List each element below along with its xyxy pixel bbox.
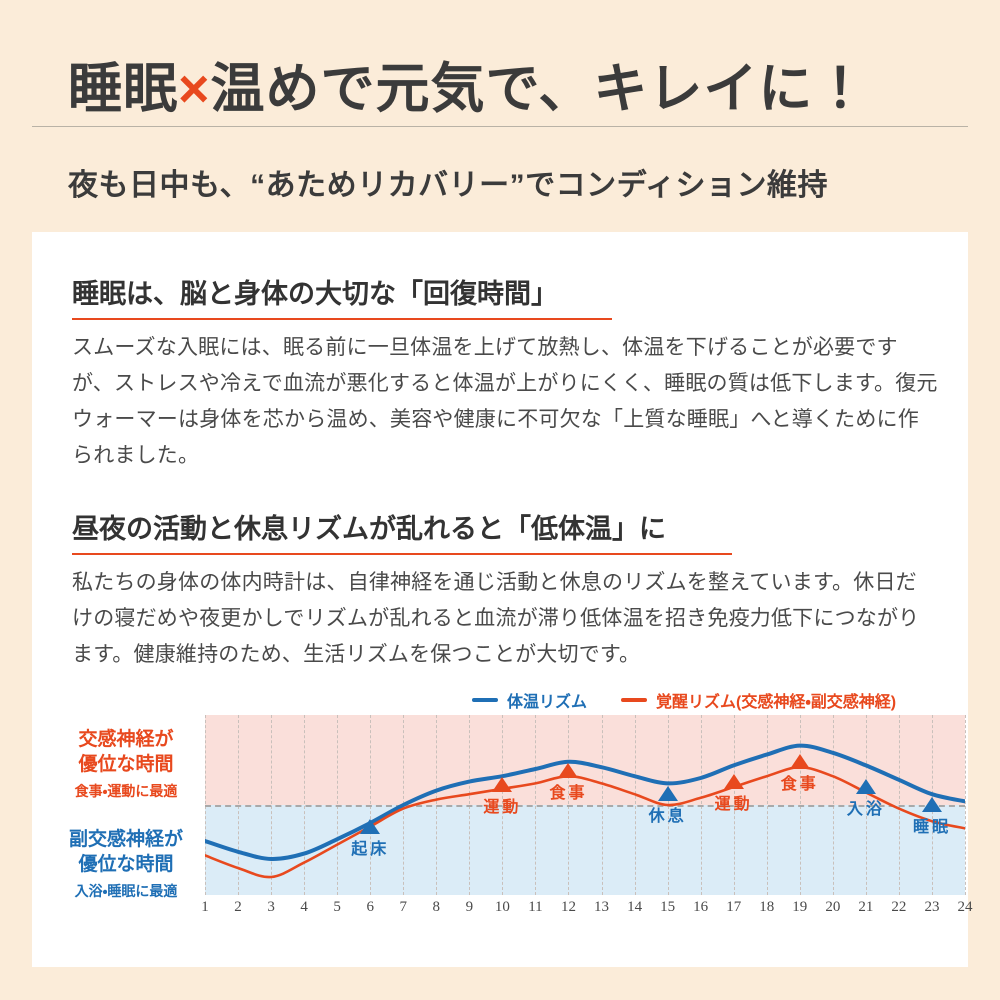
side-label-sympathetic-line1: 交感神経が bbox=[50, 727, 202, 752]
legend-label-body-temperature: 体温リズム bbox=[507, 688, 587, 712]
x-axis-tick: 20 bbox=[825, 899, 840, 916]
x-axis-tick: 23 bbox=[924, 899, 939, 916]
section-body-sleep: スムーズな入眠には、眠る前に一旦体温を上げて放熱し、体温を下げることが必要ですが… bbox=[72, 330, 938, 474]
side-label-sympathetic-sub: 食事・運動に最適 bbox=[50, 781, 202, 801]
infographic-page: 睡眠×温めで元気で、キレイに！ 夜も日中も、“あためリカバリー”でコンディション… bbox=[0, 0, 1000, 1000]
page-title: 睡眠×温めで元気で、キレイに！ bbox=[68, 44, 868, 123]
triangle-icon bbox=[724, 774, 744, 789]
page-title-part2: 温めで元気で、キレイに！ bbox=[211, 59, 869, 119]
chart-marker-起床: 起床 bbox=[351, 819, 389, 859]
section-body-rhythm: 私たちの身体の体内時計は、自律神経を通じ活動と休息のリズムを整えています。休日だ… bbox=[72, 565, 938, 673]
x-axis-tick: 13 bbox=[594, 899, 609, 916]
chart-marker-休息: 休息 bbox=[649, 786, 687, 826]
chart-marker-label: 運動 bbox=[483, 793, 521, 817]
chart-marker-運動: 運動 bbox=[483, 777, 521, 817]
chart-marker-label: 食事 bbox=[781, 770, 819, 794]
legend-label-arousal: 覚醒リズム(交感神経・副交感神経) bbox=[656, 688, 896, 712]
x-axis-tick: 14 bbox=[627, 899, 642, 916]
x-axis-tick: 21 bbox=[858, 899, 873, 916]
x-axis-tick: 16 bbox=[693, 899, 708, 916]
x-axis-tick: 3 bbox=[267, 899, 275, 916]
section-heading-rhythm: 昼夜の活動と休息リズムが乱れると「低体温」に bbox=[72, 507, 732, 546]
legend-swatch-orange bbox=[621, 698, 647, 702]
legend-swatch-blue bbox=[472, 698, 498, 702]
chart-marker-運動: 運動 bbox=[715, 774, 753, 814]
legend-item-body-temperature: 体温リズム bbox=[472, 688, 587, 712]
triangle-icon bbox=[658, 786, 678, 801]
x-axis-tick: 6 bbox=[366, 899, 374, 916]
triangle-icon bbox=[922, 797, 942, 812]
x-axis-tick: 5 bbox=[333, 899, 341, 916]
chart-marker-label: 休息 bbox=[649, 802, 687, 826]
page-subtitle: 夜も日中も、“あためリカバリー”でコンディション維持 bbox=[68, 160, 828, 204]
side-label-parasympathetic-sub: 入浴・睡眠に最適 bbox=[50, 881, 202, 901]
section-heading-sleep: 睡眠は、脳と身体の大切な「回復時間」 bbox=[72, 272, 612, 311]
triangle-icon bbox=[492, 777, 512, 792]
side-label-parasympathetic-line1: 副交感神経が bbox=[50, 827, 202, 852]
chart-legend: 体温リズム 覚醒リズム(交感神経・副交感神経) bbox=[472, 687, 962, 713]
triangle-icon bbox=[856, 779, 876, 794]
x-axis-tick: 2 bbox=[234, 899, 242, 916]
x-axis-tick: 4 bbox=[300, 899, 308, 916]
chart-marker-label: 食事 bbox=[549, 779, 587, 803]
triangle-icon bbox=[790, 754, 810, 769]
header-divider bbox=[32, 126, 968, 127]
legend-item-arousal: 覚醒リズム(交感神経・副交感神経) bbox=[621, 688, 896, 712]
side-label-sympathetic: 交感神経が 優位な時間 食事・運動に最適 bbox=[50, 727, 202, 801]
x-axis-tick: 1 bbox=[201, 899, 209, 916]
x-axis-tick: 12 bbox=[561, 899, 576, 916]
chart-marker-label: 入浴 bbox=[847, 795, 885, 819]
side-label-parasympathetic: 副交感神経が 優位な時間 入浴・睡眠に最適 bbox=[50, 827, 202, 901]
chart-x-axis: 123456789101112131415161718192021222324 bbox=[205, 899, 965, 923]
x-axis-tick: 19 bbox=[792, 899, 807, 916]
x-axis-tick: 22 bbox=[891, 899, 906, 916]
x-axis-tick: 15 bbox=[660, 899, 675, 916]
triangle-icon bbox=[360, 819, 380, 834]
circadian-rhythm-chart: 体温リズム 覚醒リズム(交感神経・副交感神経) 交感神経が 優位な時間 食事・運… bbox=[32, 687, 968, 947]
chart-marker-睡眠: 睡眠 bbox=[913, 797, 951, 837]
page-title-part1: 睡眠 bbox=[68, 59, 178, 119]
x-axis-tick: 7 bbox=[400, 899, 408, 916]
chart-marker-入浴: 入浴 bbox=[847, 779, 885, 819]
chart-marker-食事: 食事 bbox=[781, 754, 819, 794]
chart-marker-label: 睡眠 bbox=[913, 813, 951, 837]
x-axis-tick: 18 bbox=[759, 899, 774, 916]
triangle-icon bbox=[558, 763, 578, 778]
content-card: 睡眠は、脳と身体の大切な「回復時間」 スムーズな入眠には、眠る前に一旦体温を上げ… bbox=[32, 232, 968, 967]
cross-icon: × bbox=[178, 59, 211, 119]
gridline bbox=[965, 715, 967, 895]
x-axis-tick: 8 bbox=[433, 899, 441, 916]
x-axis-tick: 9 bbox=[466, 899, 474, 916]
x-axis-tick: 10 bbox=[495, 899, 510, 916]
x-axis-tick: 11 bbox=[528, 899, 542, 916]
x-axis-tick: 24 bbox=[958, 899, 973, 916]
x-axis-tick: 17 bbox=[726, 899, 741, 916]
chart-marker-label: 運動 bbox=[715, 790, 753, 814]
chart-marker-食事: 食事 bbox=[549, 763, 587, 803]
side-label-sympathetic-line2: 優位な時間 bbox=[50, 752, 202, 777]
side-label-parasympathetic-line2: 優位な時間 bbox=[50, 852, 202, 877]
chart-marker-label: 起床 bbox=[351, 835, 389, 859]
chart-plot-area: 起床運動食事休息運動食事入浴睡眠 bbox=[205, 715, 965, 895]
